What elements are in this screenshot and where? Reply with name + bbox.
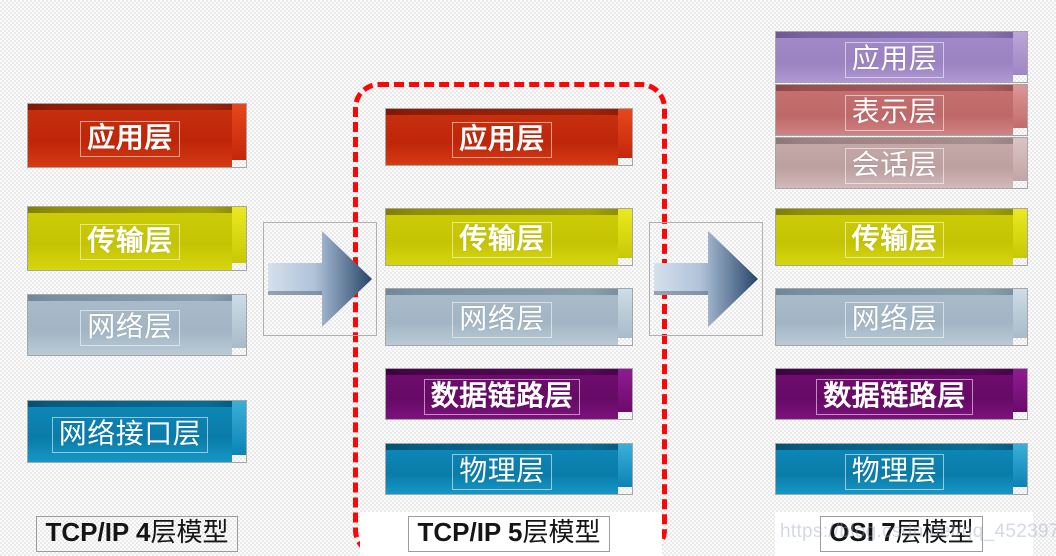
block-side-face	[232, 401, 246, 455]
caption-cjk: 层模型	[896, 518, 974, 548]
block-side-face	[618, 289, 632, 338]
caption-cjk: 层模型	[151, 518, 229, 548]
caption-ascii: TCP/IP 4	[45, 517, 150, 547]
caption-text: TCP/IP 5层模型	[408, 516, 609, 553]
layer-block-transport-left[interactable]: 传输层	[27, 206, 247, 271]
block-body: 表示层	[776, 91, 1013, 135]
layer-label: 物理层	[452, 454, 552, 490]
block-body: 会话层	[776, 144, 1013, 188]
caption-osi7: OSI 7层模型	[775, 514, 1028, 554]
layer-label: 应用层	[845, 42, 945, 78]
layer-block-datalink-right[interactable]: 数据链路层	[775, 368, 1028, 420]
block-side-face	[618, 209, 632, 258]
layer-label: 网络层	[845, 302, 945, 338]
block-side-face	[1013, 209, 1027, 258]
layer-block-app-right[interactable]: 应用层	[775, 31, 1028, 83]
arrow-right-icon	[650, 223, 762, 335]
arrow-left-to-middle[interactable]	[263, 222, 377, 336]
layer-label: 应用层	[452, 122, 552, 158]
block-body: 传输层	[28, 213, 232, 270]
block-body: 网络层	[776, 295, 1013, 345]
arrow-right-icon	[264, 223, 376, 335]
layer-label: 数据链路层	[816, 379, 973, 415]
layer-label: 传输层	[80, 224, 180, 260]
block-side-face	[618, 109, 632, 158]
layer-label: 表示层	[845, 95, 945, 131]
layer-block-app-middle[interactable]: 应用层	[385, 108, 633, 166]
layer-block-network-right[interactable]: 网络层	[775, 288, 1028, 346]
layer-label: 物理层	[845, 454, 945, 490]
layer-block-network-left[interactable]: 网络层	[27, 294, 247, 356]
block-side-face	[1013, 369, 1027, 412]
caption-tcpip4: TCP/IP 4层模型	[27, 514, 247, 554]
layer-label: 网络层	[452, 302, 552, 338]
layer-label: 传输层	[845, 222, 945, 258]
block-body: 传输层	[776, 215, 1013, 265]
block-body: 应用层	[386, 115, 618, 165]
layer-label: 会话层	[845, 148, 945, 184]
layer-label: 传输层	[452, 222, 552, 258]
block-side-face	[1013, 32, 1027, 75]
layer-block-presentation-right[interactable]: 表示层	[775, 84, 1028, 136]
layer-block-transport-right[interactable]: 传输层	[775, 208, 1028, 266]
block-side-face	[1013, 289, 1027, 338]
caption-ascii: TCP/IP 5	[417, 517, 522, 547]
layer-block-netiface-left[interactable]: 网络接口层	[27, 400, 247, 463]
block-side-face	[232, 207, 246, 263]
block-side-face	[618, 369, 632, 412]
layer-label: 网络层	[80, 310, 180, 346]
layer-block-transport-middle[interactable]: 传输层	[385, 208, 633, 266]
caption-tcpip5: TCP/IP 5层模型	[385, 514, 633, 554]
layer-label: 应用层	[80, 121, 180, 157]
block-side-face	[1013, 444, 1027, 487]
block-body: 传输层	[386, 215, 618, 265]
layer-block-physical-middle[interactable]: 物理层	[385, 443, 633, 495]
layer-block-physical-right[interactable]: 物理层	[775, 443, 1028, 495]
block-body: 数据链路层	[776, 375, 1013, 419]
diagram-canvas: 应用层 传输层 网络层 网络接口层	[0, 0, 1056, 556]
block-body: 网络层	[386, 295, 618, 345]
block-body: 物理层	[386, 450, 618, 494]
caption-text: OSI 7层模型	[820, 516, 983, 553]
layer-label: 数据链路层	[424, 379, 581, 415]
block-side-face	[232, 295, 246, 348]
block-body: 物理层	[776, 450, 1013, 494]
layer-block-session-right[interactable]: 会话层	[775, 137, 1028, 189]
block-body: 数据链路层	[386, 375, 618, 419]
block-side-face	[1013, 85, 1027, 128]
caption-cjk: 层模型	[523, 518, 601, 548]
block-body: 网络层	[28, 301, 232, 355]
caption-text: TCP/IP 4层模型	[36, 516, 237, 553]
layer-block-app-left[interactable]: 应用层	[27, 103, 247, 168]
block-body: 应用层	[776, 38, 1013, 82]
block-side-face	[618, 444, 632, 487]
caption-ascii: OSI 7	[829, 517, 895, 547]
block-side-face	[232, 104, 246, 160]
arrow-middle-to-right[interactable]	[649, 222, 763, 336]
layer-block-network-middle[interactable]: 网络层	[385, 288, 633, 346]
layer-block-datalink-middle[interactable]: 数据链路层	[385, 368, 633, 420]
block-body: 应用层	[28, 110, 232, 167]
block-body: 网络接口层	[28, 407, 232, 462]
layer-label: 网络接口层	[52, 417, 209, 453]
block-side-face	[1013, 138, 1027, 181]
